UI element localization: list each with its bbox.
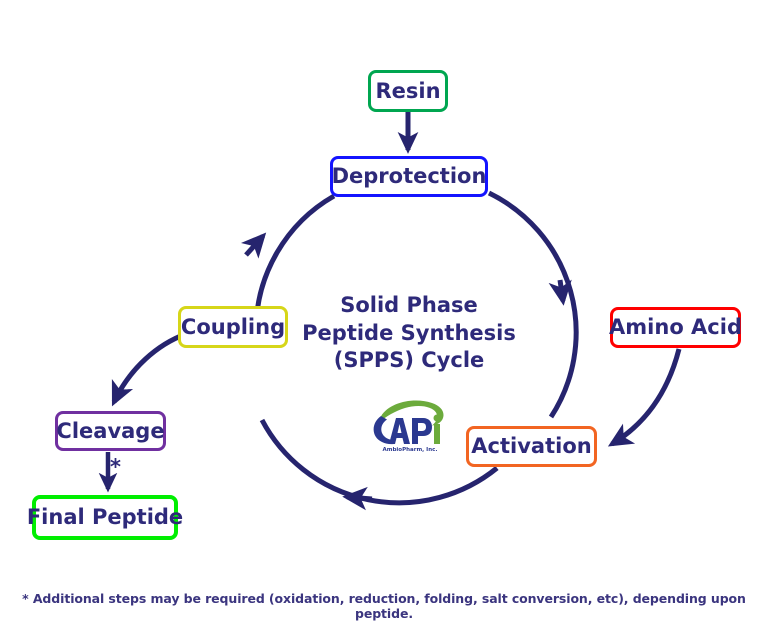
node-deprotection[interactable]: Deprotection — [330, 156, 488, 197]
node-coupling[interactable]: Coupling — [178, 306, 288, 348]
arrow-amino-acid-to-activation — [612, 349, 679, 444]
node-amino-acid-label: Amino Acid — [609, 317, 742, 338]
node-resin-label: Resin — [375, 81, 440, 102]
node-amino-acid[interactable]: Amino Acid — [610, 307, 741, 348]
node-final-peptide[interactable]: Final Peptide — [32, 495, 178, 540]
spps-cycle-diagram: Resin Deprotection Amino Acid Activation… — [0, 0, 768, 614]
logo-swoosh — [380, 401, 444, 426]
arrowhead-bottom-arc — [347, 497, 372, 499]
asterisk-marker: * — [110, 455, 121, 479]
logo-letter-i-dot — [434, 415, 441, 422]
arrow-coupling-to-cleavage — [114, 334, 186, 402]
node-activation-label: Activation — [471, 436, 591, 457]
cycle-center-title: Solid Phase Peptide Synthesis (SPPS) Cyc… — [284, 292, 534, 375]
node-coupling-label: Coupling — [181, 317, 285, 338]
logo-letter-a — [389, 418, 410, 444]
arrowhead-right-arc — [560, 280, 563, 301]
node-activation[interactable]: Activation — [466, 426, 597, 467]
logo-company-name: AmbioPharm, Inc. — [382, 447, 437, 452]
node-cleavage-label: Cleavage — [56, 421, 164, 442]
center-title-line-2: Peptide Synthesis — [284, 320, 534, 348]
ambiopharm-logo: AmbioPharm, Inc. — [366, 396, 454, 452]
arrowhead-left-arc — [246, 236, 263, 255]
ambiopharm-logo-mark: AmbioPharm, Inc. — [366, 396, 454, 452]
logo-letter-p — [412, 418, 432, 444]
node-resin[interactable]: Resin — [368, 70, 448, 112]
node-final-peptide-label: Final Peptide — [27, 507, 183, 528]
footnote-text: * Additional steps may be required (oxid… — [0, 591, 768, 621]
node-deprotection-label: Deprotection — [332, 166, 487, 187]
node-cleavage[interactable]: Cleavage — [55, 411, 166, 451]
logo-letter-i-stem — [434, 424, 440, 444]
center-title-line-1: Solid Phase — [284, 292, 534, 320]
center-title-line-3: (SPPS) Cycle — [284, 347, 534, 375]
